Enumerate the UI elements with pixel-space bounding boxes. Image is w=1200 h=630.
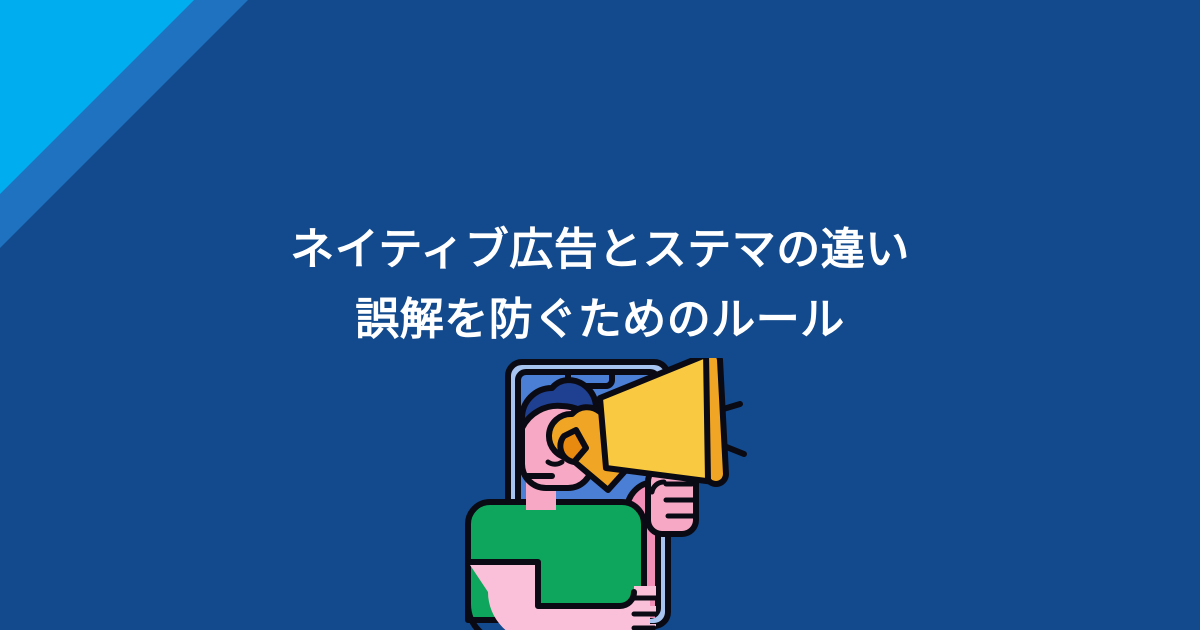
cyan-corner-triangle: [0, 0, 194, 194]
title-line-2: 誤解を防ぐためのルール: [0, 285, 1200, 355]
mid-blue-corner-triangle: [0, 0, 248, 248]
page-title: ネイティブ広告とステマの違い 誤解を防ぐためのルール: [0, 215, 1200, 355]
person-with-megaphone-illustration: [452, 358, 752, 630]
og-image-canvas: ネイティブ広告とステマの違い 誤解を防ぐためのルール: [0, 0, 1200, 630]
title-line-1: ネイティブ広告とステマの違い: [0, 215, 1200, 285]
